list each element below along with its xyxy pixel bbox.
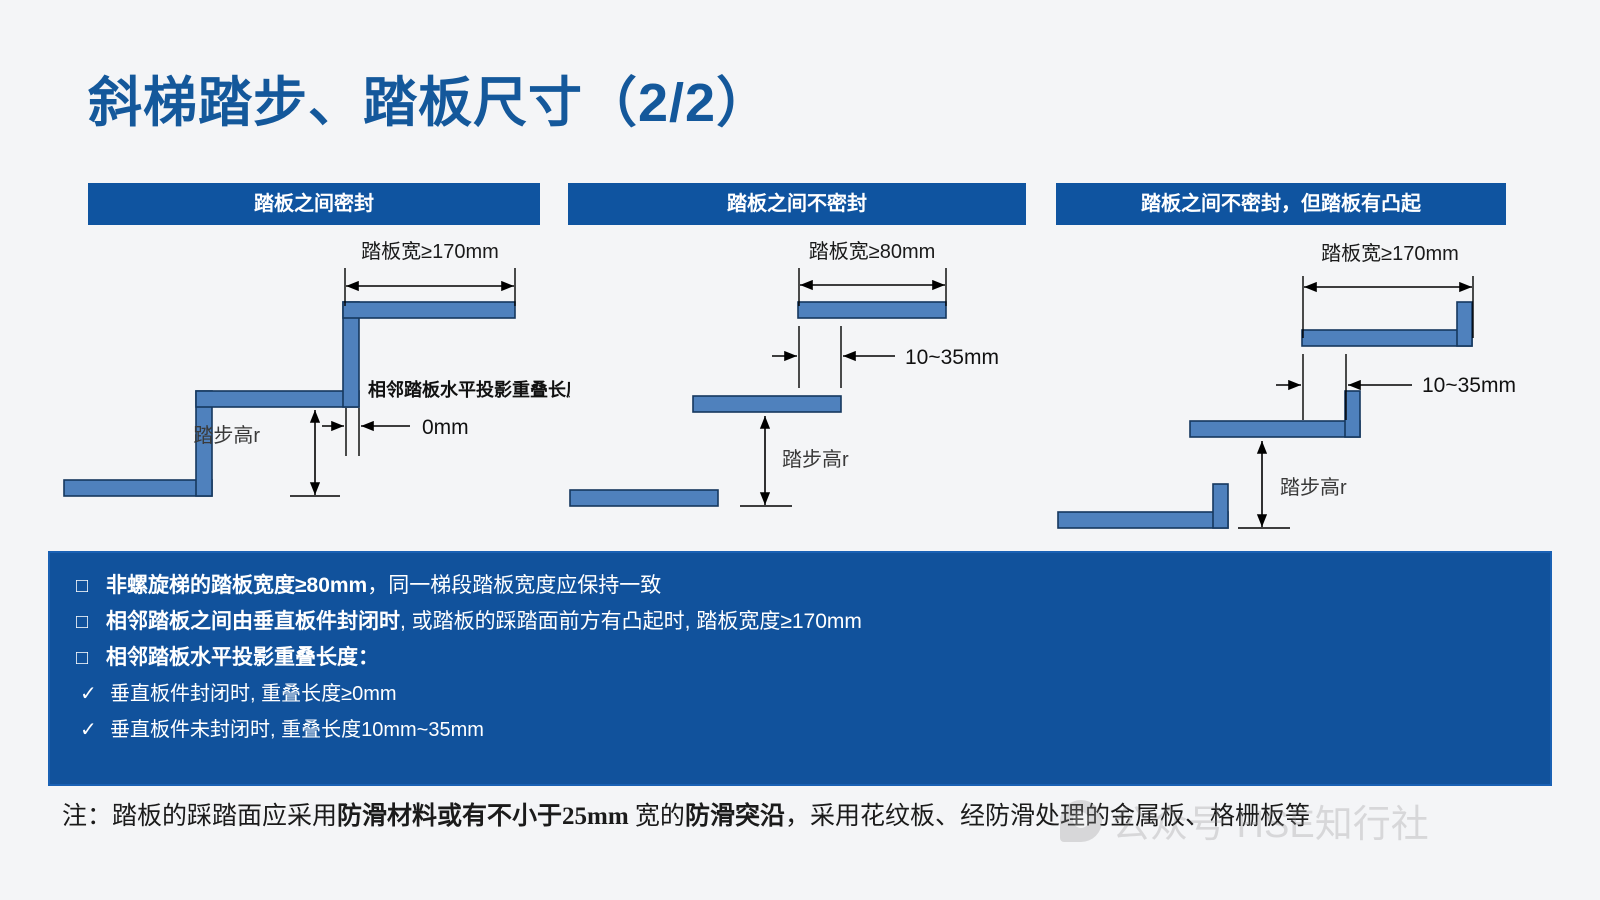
bullet-bold: 相邻踏板水平投影重叠长度： [106, 646, 379, 669]
column-header-unsealed-nosing: 踏板之间不密封，但踏板有凸起 [1056, 183, 1506, 225]
bullet-text: 相邻踏板之间由垂直板件封闭时, 或踏板的踩踏面前方有凸起时, 踏板宽度≥170m… [106, 607, 862, 637]
label-overlap-title: 相邻踏板水平投影重叠长度 [368, 379, 570, 400]
square-bullet-icon: □ [76, 571, 106, 601]
square-bullet-icon: □ [76, 643, 106, 673]
tread-middle [693, 396, 841, 412]
diagram-sealed-treads: 踏板宽≥170mm 踏步高r 相邻踏板水平投影重叠长度 0mm [50, 228, 570, 540]
bullet-item: □ 非螺旋梯的踏板宽度≥80mm，同一梯段踏板宽度应保持一致 [50, 571, 1550, 601]
column-header-sealed: 踏板之间密封 [88, 183, 540, 225]
label-tread-width: 踏板宽≥80mm [809, 240, 936, 263]
bullet-text: 垂直板件封闭时, 重叠长度≥0mm [110, 679, 397, 709]
nosing-top [1457, 302, 1472, 346]
bullet-item: □ 相邻踏板水平投影重叠长度： [50, 643, 1550, 673]
column-2: 踏板之间不密封 [568, 183, 1026, 225]
bullet-text: 非螺旋梯的踏板宽度≥80mm，同一梯段踏板宽度应保持一致 [106, 571, 661, 601]
tread-top [1302, 330, 1472, 346]
check-bullet-icon: ✓ [80, 679, 110, 709]
note-prefix: 注：踏板的踩踏面应采用 [62, 803, 337, 830]
label-tread-width: 踏板宽≥170mm [1321, 242, 1459, 265]
slide-canvas: 斜梯踏步、踏板尺寸（2/2） 踏板之间密封 踏板之间不密封 踏板之间不密封，但踏… [0, 0, 1600, 900]
diagram-unsealed-with-nosing: 踏板宽≥170mm 10~35mm 踏步高r [1050, 228, 1550, 540]
nosing-middle [1345, 391, 1360, 437]
bullet-rest: 垂直板件封闭时, 重叠长度≥0mm [110, 683, 397, 705]
label-step-height: 踏步高r [1280, 476, 1347, 499]
tread-top [343, 302, 515, 318]
tread-top [798, 302, 946, 318]
square-bullet-icon: □ [76, 607, 106, 637]
tread-middle [1190, 421, 1360, 437]
column-1: 踏板之间密封 [88, 183, 540, 225]
note-bold-1: 防滑材料或有不小于25mm [337, 803, 629, 830]
bullet-item: □ 相邻踏板之间由垂直板件封闭时, 或踏板的踩踏面前方有凸起时, 踏板宽度≥17… [50, 607, 1550, 637]
bullet-text: 相邻踏板水平投影重叠长度： [106, 643, 379, 673]
label-overlap-value: 10~35mm [905, 346, 999, 369]
column-header-unsealed: 踏板之间不密封 [568, 183, 1026, 225]
note-bold-2: 防滑突沿 [685, 803, 785, 830]
bullet-rest: , 或踏板的踩踏面前方有凸起时, 踏板宽度≥170mm [400, 610, 862, 633]
bullet-rest: 垂直板件未封闭时, 重叠长度10mm~35mm [110, 719, 484, 741]
tread-bottom [1058, 512, 1228, 528]
label-overlap-value: 10~35mm [1422, 374, 1516, 397]
bullet-rest: ，同一梯段踏板宽度应保持一致 [367, 574, 661, 597]
note-suffix: ，采用花纹板、经防滑处理的金属板、格栅板等 [785, 803, 1310, 830]
bullet-bold: 非螺旋梯的踏板宽度≥80mm [106, 574, 367, 597]
label-step-height: 踏步高r [193, 424, 260, 447]
requirements-panel: □ 非螺旋梯的踏板宽度≥80mm，同一梯段踏板宽度应保持一致 □ 相邻踏板之间由… [48, 551, 1552, 786]
label-tread-width: 踏板宽≥170mm [361, 240, 499, 263]
bullet-item: ✓ 垂直板件未封闭时, 重叠长度10mm~35mm [50, 715, 1550, 745]
nosing-bottom [1213, 484, 1228, 528]
note-mid: 宽的 [629, 803, 685, 830]
tread-middle [196, 391, 359, 407]
column-3: 踏板之间不密封，但踏板有凸起 [1056, 183, 1506, 225]
diagram-unsealed-treads: 踏板宽≥80mm 10~35mm 踏步高r [560, 228, 1040, 540]
tread-bottom [64, 480, 212, 496]
bullet-item: ✓ 垂直板件封闭时, 重叠长度≥0mm [50, 679, 1550, 709]
page-title: 斜梯踏步、踏板尺寸（2/2） [88, 58, 771, 137]
label-overlap-value: 0mm [422, 416, 469, 439]
check-bullet-icon: ✓ [80, 715, 110, 745]
bullet-text: 垂直板件未封闭时, 重叠长度10mm~35mm [110, 715, 484, 745]
requirements-list: □ 非螺旋梯的踏板宽度≥80mm，同一梯段踏板宽度应保持一致 □ 相邻踏板之间由… [50, 553, 1550, 745]
footer-note: 注：踏板的踩踏面应采用防滑材料或有不小于25mm 宽的防滑突沿，采用花纹板、经防… [62, 800, 1542, 834]
tread-bottom [570, 490, 718, 506]
label-step-height: 踏步高r [782, 448, 849, 471]
bullet-bold: 相邻踏板之间由垂直板件封闭时 [106, 610, 400, 633]
